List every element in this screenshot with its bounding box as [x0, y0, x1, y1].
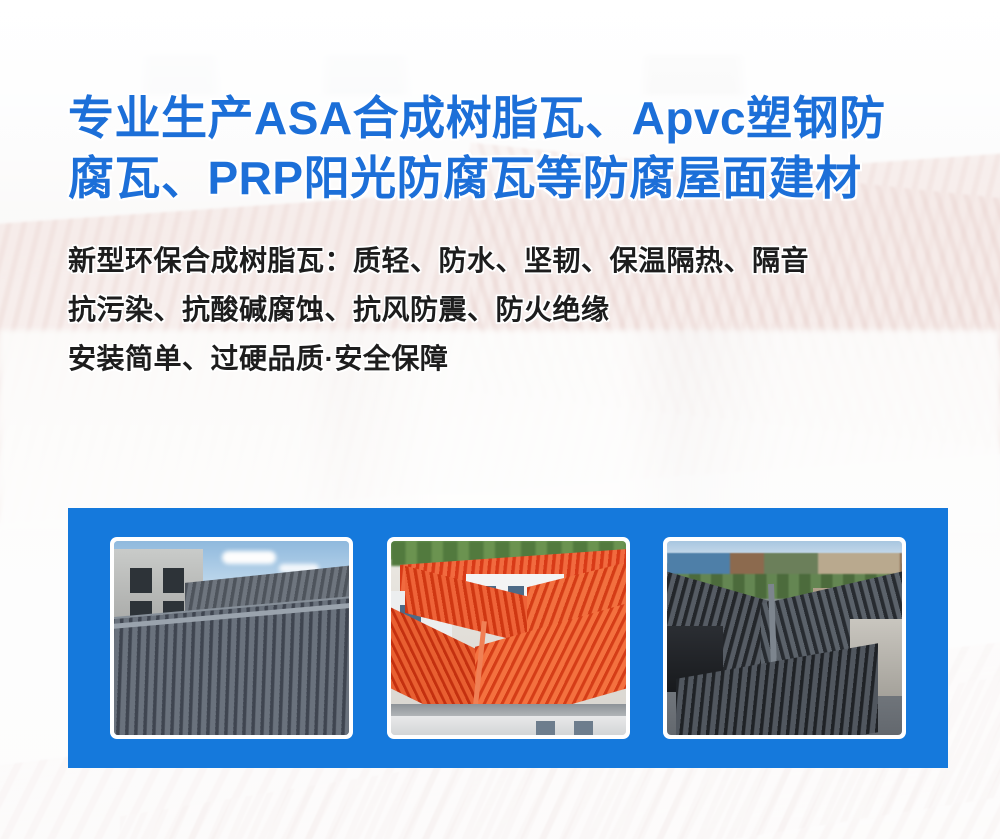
subtitle-line-2: 抗污染、抗酸碱腐蚀、抗风防震、防火绝缘	[68, 285, 968, 334]
photo-2-content	[391, 541, 626, 735]
subtitle-line-3: 安装简单、过硬品质·安全保障	[68, 334, 968, 383]
red-resin-tile-roof-photo[interactable]	[387, 537, 630, 739]
dark-grey-resin-tile-roof-photo[interactable]	[110, 537, 353, 739]
product-promo-banner: 专业生产ASA合成树脂瓦、Apvc塑钢防 腐瓦、PRP阳光防腐瓦等防腐屋面建材 …	[0, 0, 1000, 839]
photo-1-content	[114, 541, 349, 735]
headline-line-2: 腐瓦、PRP阳光防腐瓦等防腐屋面建材	[68, 148, 968, 208]
product-photo-gallery	[68, 508, 948, 768]
subtitle-block: 新型环保合成树脂瓦：质轻、防水、坚韧、保温隔热、隔音 抗污染、抗酸碱腐蚀、抗风防…	[68, 236, 968, 383]
subtitle-line-1: 新型环保合成树脂瓦：质轻、防水、坚韧、保温隔热、隔音	[68, 236, 968, 285]
headline-line-1: 专业生产ASA合成树脂瓦、Apvc塑钢防	[68, 88, 968, 148]
photo-3-content	[667, 541, 902, 735]
black-resin-tile-roof-photo[interactable]	[663, 537, 906, 739]
banner-text-block: 专业生产ASA合成树脂瓦、Apvc塑钢防 腐瓦、PRP阳光防腐瓦等防腐屋面建材 …	[68, 88, 968, 383]
